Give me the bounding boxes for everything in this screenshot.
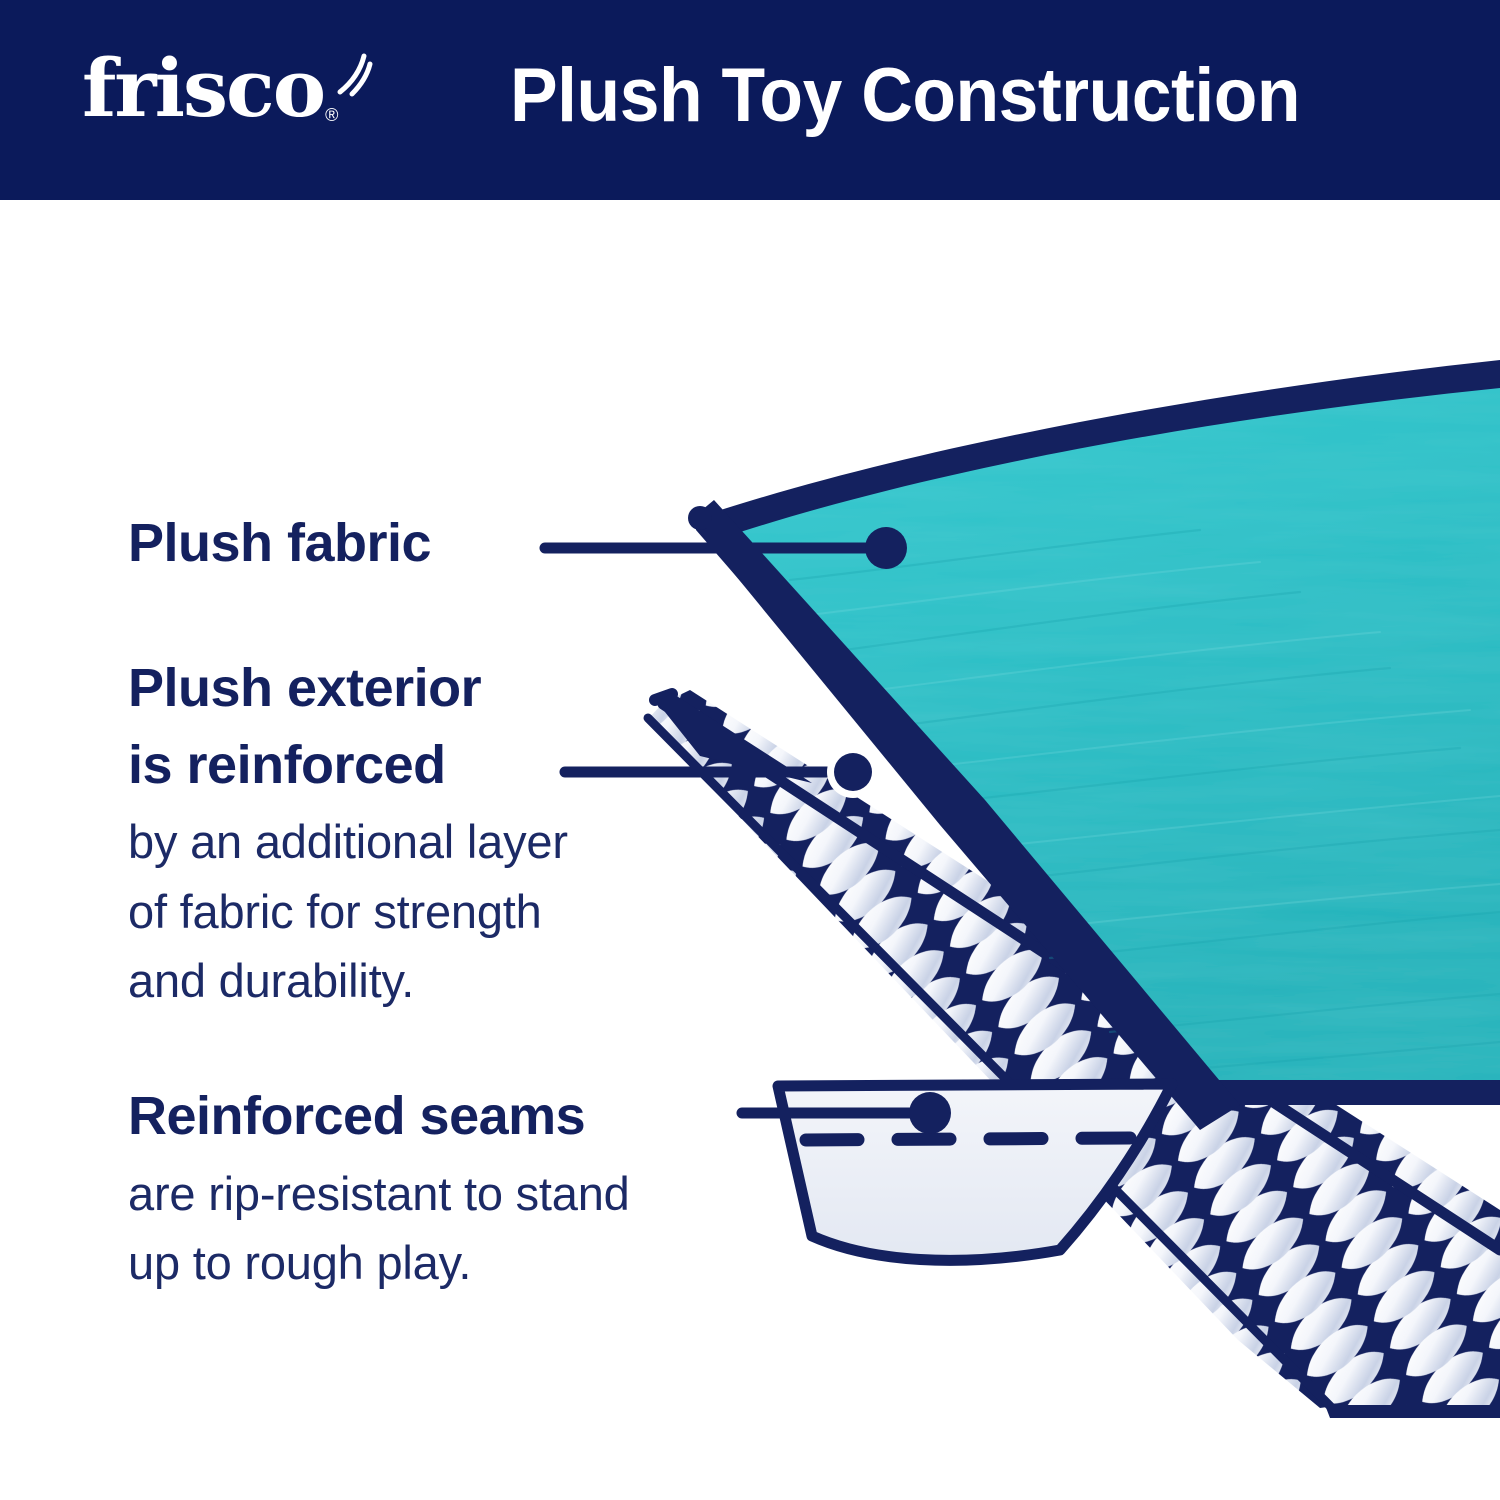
- callout-body-plush-exterior: by an additional layer of fabric for str…: [128, 807, 728, 1016]
- header-band: frisco® Plush Toy Construction: [0, 0, 1500, 200]
- callout-heading-reinforced-seams: Reinforced seams: [128, 1078, 808, 1155]
- callout-plush-exterior: Plush exterior is reinforced by an addit…: [128, 650, 728, 1016]
- registered-trademark-icon: ®: [325, 105, 336, 125]
- leader-dot-plush-fabric: [865, 527, 907, 569]
- callout-heading-plush-fabric: Plush fabric: [128, 505, 608, 582]
- callout-body-reinforced-seams: are rip-resistant to stand up to rough p…: [128, 1159, 808, 1298]
- callout-plush-fabric: Plush fabric: [128, 505, 608, 582]
- frisco-logo: frisco®: [82, 48, 335, 128]
- page-title: Plush Toy Construction: [510, 48, 1300, 143]
- brand-name: frisco: [82, 41, 324, 135]
- callout-reinforced-seams: Reinforced seams are rip-resistant to st…: [128, 1078, 808, 1298]
- logo-swoosh-icon: [334, 52, 380, 98]
- leader-dot-reinforced-seams: [909, 1092, 951, 1134]
- leader-dot-plush-exterior: [834, 753, 872, 791]
- callout-heading-plush-exterior: Plush exterior is reinforced: [128, 650, 728, 803]
- infographic-page: frisco® Plush Toy Construction: [0, 0, 1500, 1500]
